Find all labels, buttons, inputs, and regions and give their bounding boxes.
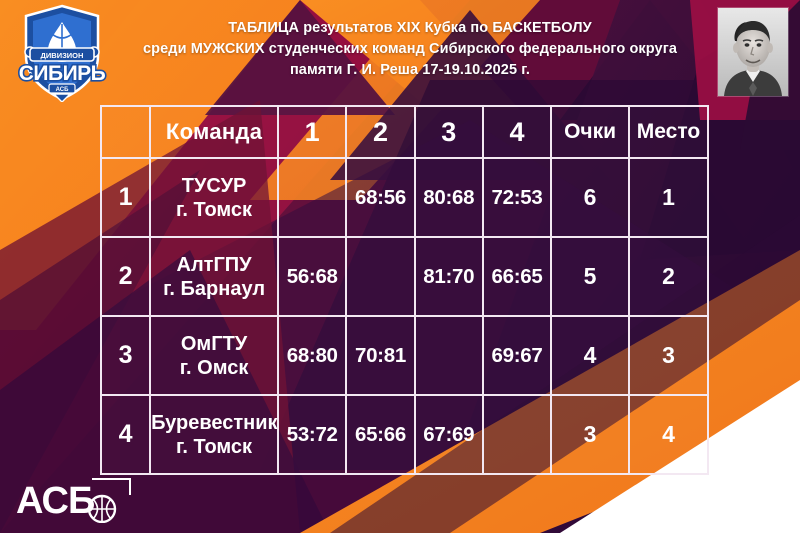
row-team: АлтГПУ г. Барнаул [150, 237, 278, 316]
score-cell-self [415, 316, 483, 395]
row-rank: 4 [101, 395, 150, 474]
score-cell: 68:80 [278, 316, 346, 395]
team-city: г. Барнаул [151, 277, 277, 301]
score-cell-self [483, 395, 551, 474]
score-cell: 81:70 [415, 237, 483, 316]
row-place: 4 [629, 395, 708, 474]
header-rank [101, 106, 150, 158]
asb-logo-label: АСБ [16, 480, 94, 522]
team-name: ОмГТУ [151, 332, 277, 356]
row-points: 6 [551, 158, 629, 237]
team-city: г. Омск [151, 356, 277, 380]
table-row: 3 ОмГТУ г. Омск 68:80 70:81 69:67 4 3 [101, 316, 708, 395]
logo-sibir-label: СИБИРЬ [19, 62, 106, 85]
score-cell: 66:65 [483, 237, 551, 316]
standings-table-container: Команда 1 2 3 4 Очки Место 1 ТУСУР г. То… [100, 105, 709, 474]
header-opponent-1: 1 [278, 106, 346, 158]
header-points: Очки [551, 106, 629, 158]
table-header-row: Команда 1 2 3 4 Очки Место [101, 106, 708, 158]
row-points: 5 [551, 237, 629, 316]
score-cell: 67:69 [415, 395, 483, 474]
score-cell: 72:53 [483, 158, 551, 237]
team-name: АлтГПУ [151, 253, 277, 277]
score-cell-self [346, 237, 414, 316]
score-cell: 80:68 [415, 158, 483, 237]
team-city: г. Томск [151, 198, 277, 222]
title-line-1: ТАБЛИЦА результатов XIX Кубка по БАСКЕТБ… [120, 18, 700, 39]
table-row: 4 Буревестник г. Томск 53:72 65:66 67:69… [101, 395, 708, 474]
poster-title: ТАБЛИЦА результатов XIX Кубка по БАСКЕТБ… [120, 18, 700, 81]
score-cell: 68:56 [346, 158, 414, 237]
title-line-3: памяти Г. И. Реша 17-19.10.2025 г. [120, 60, 700, 81]
score-cell: 65:66 [346, 395, 414, 474]
row-team: ОмГТУ г. Омск [150, 316, 278, 395]
score-cell: 56:68 [278, 237, 346, 316]
row-team: Буревестник г. Томск [150, 395, 278, 474]
table-row: 2 АлтГПУ г. Барнаул 56:68 81:70 66:65 5 … [101, 237, 708, 316]
score-cell: 53:72 [278, 395, 346, 474]
memorial-portrait [718, 8, 788, 96]
header-place: Место [629, 106, 708, 158]
corner-bracket-icon [92, 479, 130, 495]
team-name: Буревестник [151, 411, 277, 435]
score-cell: 70:81 [346, 316, 414, 395]
header-opponent-3: 3 [415, 106, 483, 158]
table-row: 1 ТУСУР г. Томск 68:56 80:68 72:53 6 1 [101, 158, 708, 237]
tournament-standings-poster: ДИВИЗИОН СИБИРЬ АСБ ТАБЛИЦА результатов … [0, 0, 800, 533]
row-team: ТУСУР г. Томск [150, 158, 278, 237]
team-name: ТУСУР [151, 174, 277, 198]
row-points: 3 [551, 395, 629, 474]
header-opponent-2: 2 [346, 106, 414, 158]
row-place: 1 [629, 158, 708, 237]
asb-logo: АСБ [14, 477, 132, 523]
logo-division-label: ДИВИЗИОН [41, 51, 84, 60]
sibir-division-logo: ДИВИЗИОН СИБИРЬ АСБ [16, 4, 108, 102]
row-rank: 2 [101, 237, 150, 316]
header-team: Команда [150, 106, 278, 158]
score-cell: 69:67 [483, 316, 551, 395]
row-place: 3 [629, 316, 708, 395]
row-points: 4 [551, 316, 629, 395]
header-opponent-4: 4 [483, 106, 551, 158]
row-rank: 1 [101, 158, 150, 237]
title-line-2: среди МУЖСКИХ студенческих команд Сибирс… [120, 39, 700, 60]
team-city: г. Томск [151, 435, 277, 459]
row-rank: 3 [101, 316, 150, 395]
row-place: 2 [629, 237, 708, 316]
standings-table: Команда 1 2 3 4 Очки Место 1 ТУСУР г. То… [100, 105, 709, 475]
score-cell-self [278, 158, 346, 237]
logo-asb-badge-label: АСБ [56, 87, 70, 93]
